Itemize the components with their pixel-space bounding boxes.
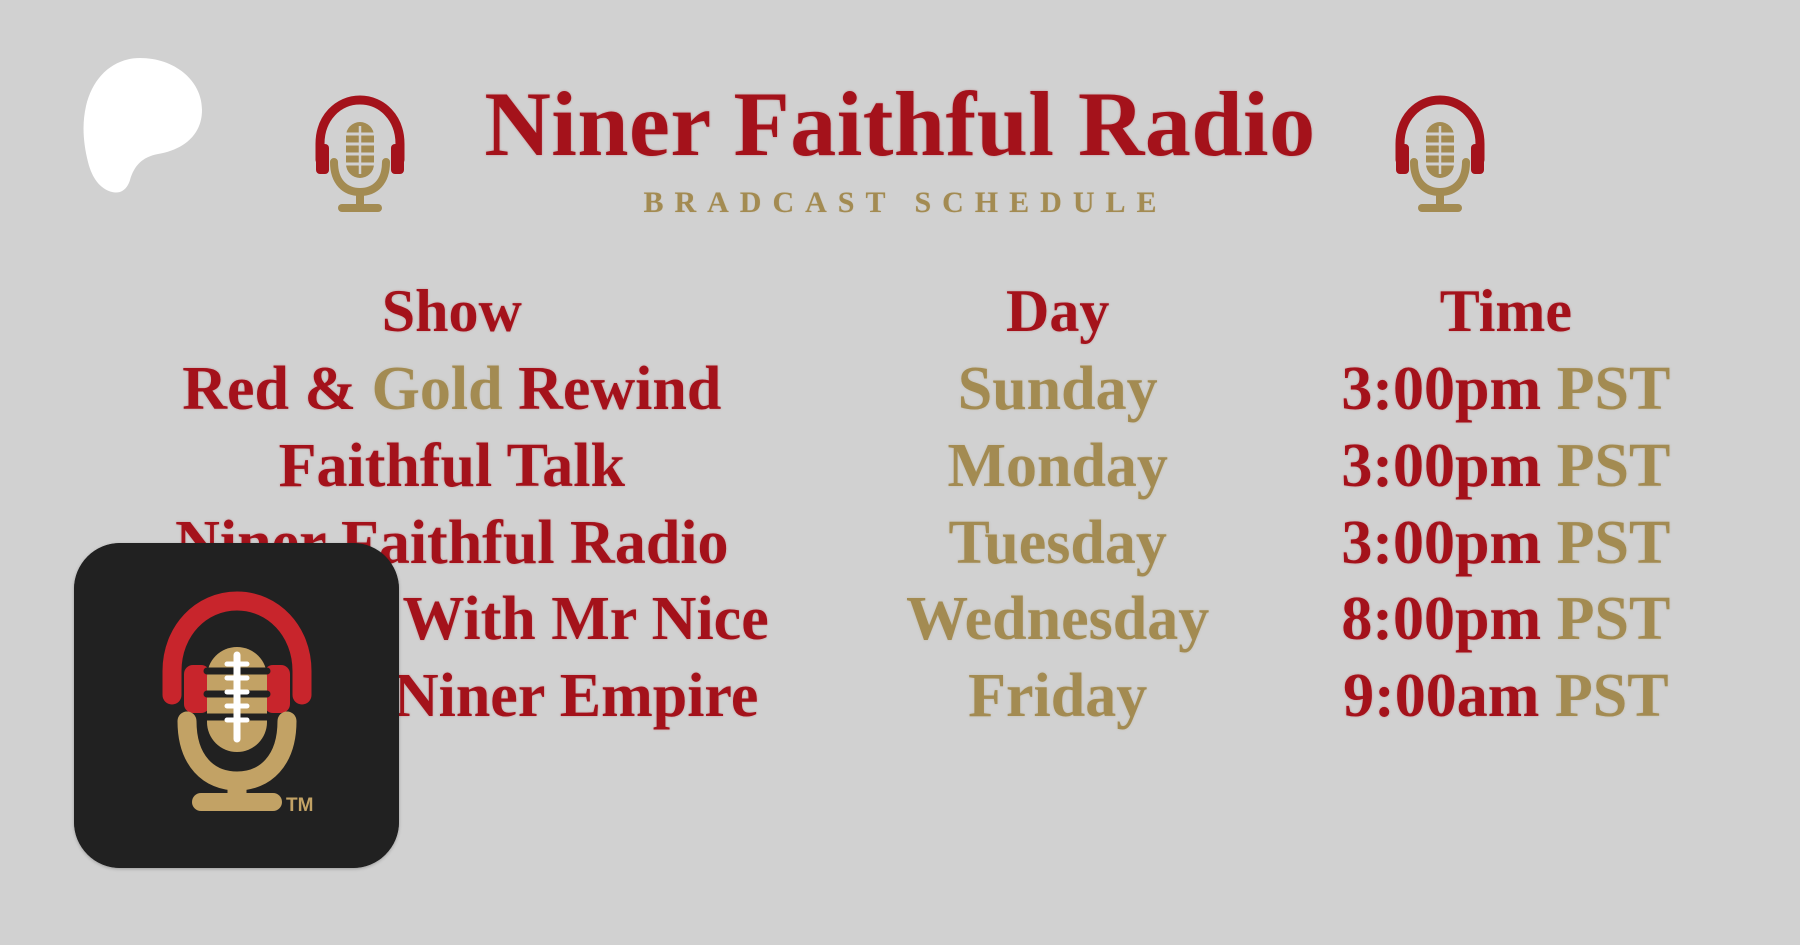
cell-day: Sunday: [834, 351, 1282, 428]
microphone-headphones-icon: [306, 86, 414, 214]
time-zone: PST: [1555, 662, 1669, 730]
schedule-graphic: Niner Faithful Radio BRADCAST SCHEDULE: [0, 0, 1800, 945]
time-zone: PST: [1557, 355, 1671, 423]
time-value: 3:00pm: [1341, 509, 1541, 577]
time-zone: PST: [1557, 585, 1671, 653]
cell-time: 9:00am PST: [1282, 658, 1730, 735]
cell-time: 8:00pm PST: [1282, 581, 1730, 658]
table-row: Red & Gold Rewind Sunday 3:00pm PST: [70, 351, 1730, 428]
table-row: Faithful Talk Monday 3:00pm PST: [70, 428, 1730, 505]
app-icon-overlay: TM: [74, 543, 399, 868]
cell-show: Red & Gold Rewind: [70, 351, 834, 428]
column-header-day: Day: [834, 278, 1282, 351]
show-name-prefix: Red &: [182, 355, 371, 423]
cell-time: 3:00pm PST: [1282, 428, 1730, 505]
show-name-suffix: Rewind: [503, 355, 722, 423]
cell-day: Friday: [834, 658, 1282, 735]
cell-show: Faithful Talk: [70, 428, 834, 505]
page-subtitle: BRADCAST SCHEDULE: [484, 186, 1315, 220]
title-block: Niner Faithful Radio BRADCAST SCHEDULE: [484, 78, 1315, 220]
time-value: 3:00pm: [1341, 432, 1541, 500]
cell-time: 3:00pm PST: [1282, 505, 1730, 582]
time-zone: PST: [1557, 432, 1671, 500]
trademark-label: TM: [286, 795, 313, 816]
time-value: 8:00pm: [1341, 585, 1541, 653]
microphone-headphones-icon: [1386, 86, 1494, 214]
cell-time: 3:00pm PST: [1282, 351, 1730, 428]
time-zone: PST: [1557, 509, 1671, 577]
show-name-accent: Gold: [372, 355, 503, 423]
column-header-time: Time: [1282, 278, 1730, 351]
cell-day: Wednesday: [834, 581, 1282, 658]
header: Niner Faithful Radio BRADCAST SCHEDULE: [0, 78, 1800, 220]
show-name-prefix: Faithful Talk: [279, 432, 625, 500]
page-title: Niner Faithful Radio: [484, 78, 1315, 170]
cell-day: Monday: [834, 428, 1282, 505]
time-value: 9:00am: [1343, 662, 1539, 730]
cell-day: Tuesday: [834, 505, 1282, 582]
column-header-show: Show: [70, 278, 834, 351]
time-value: 3:00pm: [1341, 355, 1541, 423]
table-header-row: Show Day Time: [70, 278, 1730, 351]
